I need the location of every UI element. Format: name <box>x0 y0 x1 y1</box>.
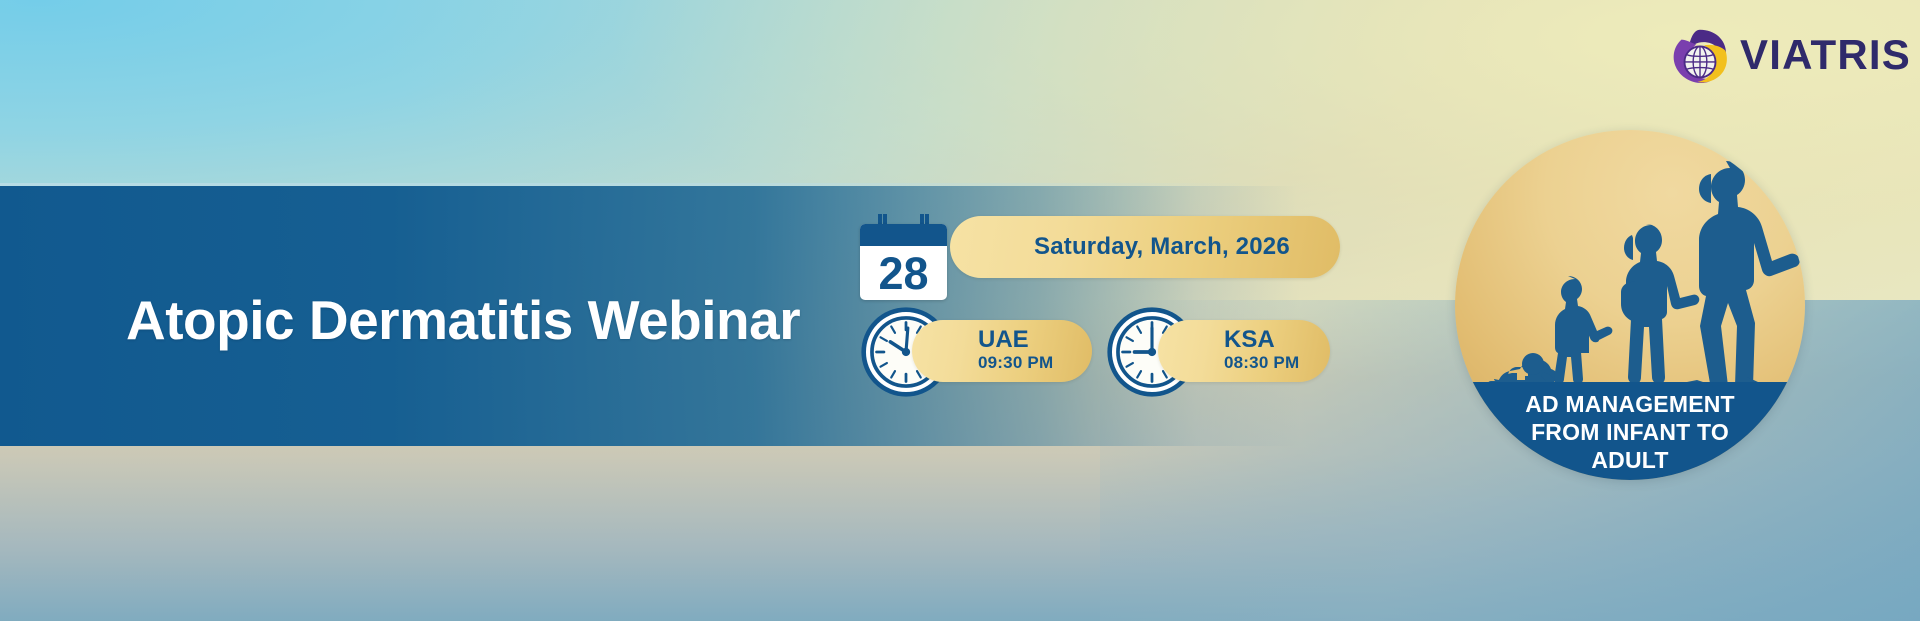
timezone-ksa-name: KSA <box>1224 328 1275 352</box>
hero-caption-line-1: AD MANAGEMENT <box>1455 390 1805 418</box>
hero-badge: AD MANAGEMENT FROM INFANT TO ADULT <box>1455 130 1805 480</box>
hero-caption: AD MANAGEMENT FROM INFANT TO ADULT <box>1455 390 1805 474</box>
calendar-body: 28 <box>860 224 947 300</box>
viatris-wordmark: VIATRIS <box>1740 34 1911 76</box>
calendar-icon: 28 <box>860 214 947 300</box>
globe-swirl-icon <box>1668 26 1732 88</box>
hero-caption-line-3: ADULT <box>1455 446 1805 474</box>
webinar-banner: Atopic Dermatitis Webinar 28 Saturday, M… <box>0 0 1920 621</box>
calendar-day-number: 28 <box>860 246 947 300</box>
calendar-header-bar <box>860 224 947 246</box>
timezone-uae-pill: UAE 09:30 PM <box>912 320 1092 382</box>
timezone-uae-time: 09:30 PM <box>978 352 1053 374</box>
viatris-logo: VIATRIS <box>1668 26 1906 88</box>
page-title: Atopic Dermatitis Webinar <box>126 288 800 352</box>
hero-caption-line-2: FROM INFANT TO <box>1455 418 1805 446</box>
event-date-label: Saturday, March, 2026 <box>1034 233 1290 261</box>
timezone-ksa-time: 08:30 PM <box>1224 352 1299 374</box>
event-date-pill: Saturday, March, 2026 <box>950 216 1340 278</box>
timezone-uae-name: UAE <box>978 328 1029 352</box>
timezone-ksa-pill: KSA 08:30 PM <box>1158 320 1330 382</box>
